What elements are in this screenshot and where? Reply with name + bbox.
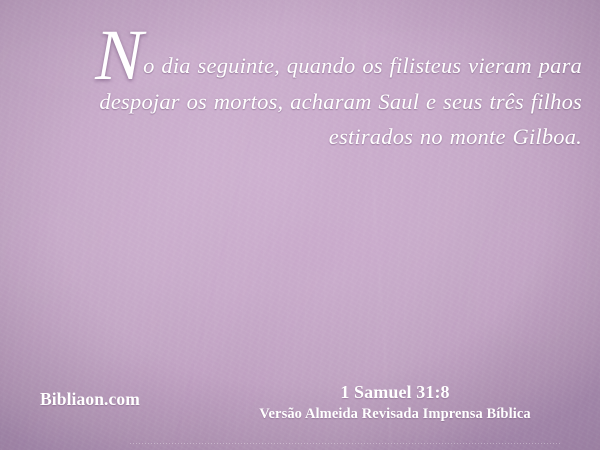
verse-reference: 1 Samuel 31:8 [190,382,600,403]
bibliaon-logo[interactable]: Bibliaon.com [40,389,140,410]
verse-text: No dia seguinte, quando os filisteus vie… [0,48,582,155]
verse-body: o dia seguinte, quando os filisteus vier… [99,53,582,149]
verse-block: No dia seguinte, quando os filisteus vie… [0,48,582,155]
logo-suffix: on.com [85,389,140,409]
verse-image-canvas: No dia seguinte, quando os filisteus vie… [0,0,600,450]
logo-prefix: Biblia [40,389,85,409]
bible-version-label: Versão Almeida Revisada Imprensa Bíblica [190,405,600,423]
verse-dropcap: N [95,15,143,95]
attribution-block: 1 Samuel 31:8 Versão Almeida Revisada Im… [190,382,600,423]
bottom-edge-dots [130,443,560,444]
